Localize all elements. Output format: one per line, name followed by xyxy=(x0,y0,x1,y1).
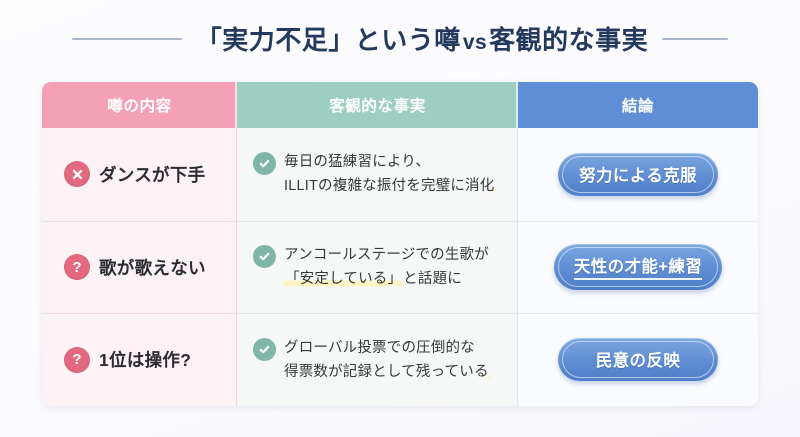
fact-text: 毎日の猛練習により、 ILLITの複雑な振付を完璧に消化 xyxy=(284,151,496,199)
table-header-conclusion-label: 結論 xyxy=(622,94,654,116)
question-circle-icon: ? xyxy=(64,254,90,280)
fact-line-2-post: と話題に xyxy=(403,271,462,287)
rumour-cell: ? 1位は操作? xyxy=(42,313,237,406)
check-circle-icon xyxy=(253,245,276,268)
fact-line-2-pre: 得票数が記録として残っている xyxy=(284,364,489,380)
title-rule-left-decoration xyxy=(72,38,182,40)
fact-line-2-highlight xyxy=(494,178,496,194)
page-title-block: 「実力不足」という噂vs客観的な事実 xyxy=(0,20,800,57)
conclusion-cell: 民意の反映 xyxy=(518,313,758,406)
rumour-cell: ダンスが下手 xyxy=(42,128,237,221)
fact-content: 毎日の猛練習により、 ILLITの複雑な振付を完璧に消化 xyxy=(253,149,496,199)
check-circle-icon xyxy=(253,338,276,361)
conclusion-badge[interactable]: 民意の反映 xyxy=(558,338,718,381)
conclusion-badge[interactable]: 努力による克服 xyxy=(558,153,718,196)
question-circle-icon: ? xyxy=(64,347,90,373)
fact-line-2: 得票数が記録として残っている xyxy=(284,361,491,385)
fact-cell: アンコールステージでの生歌が 「安定している」と話題に xyxy=(237,221,518,314)
rumour-label: 1位は操作? xyxy=(99,347,191,372)
fact-line-1: アンコールステージでの生歌が xyxy=(284,244,489,268)
x-circle-icon xyxy=(64,161,90,187)
fact-line-2-highlight xyxy=(489,364,491,380)
page-title-part-fact: 客観的な事実 xyxy=(489,25,648,55)
page-title: 「実力不足」という噂vs客観的な事実 xyxy=(196,20,648,57)
fact-cell: 毎日の猛練習により、 ILLITの複雑な振付を完璧に消化 xyxy=(237,128,518,221)
conclusion-cell: 努力による克服 xyxy=(518,128,758,221)
conclusion-label: 民意の反映 xyxy=(596,347,681,371)
rumour-content: ダンスが下手 xyxy=(64,161,205,187)
table-header-rumour: 噂の内容 xyxy=(42,82,237,128)
table-header-row: 噂の内容 客観的な事実 結論 xyxy=(42,82,758,128)
table-row: ダンスが下手 毎日の猛練習により、 ILLITの複雑な振付を完璧に消化 xyxy=(42,128,758,221)
rumour-content: ? 歌が歌えない xyxy=(64,254,206,280)
fact-content: グローバル投票での圧倒的な 得票数が記録として残っている xyxy=(253,335,491,385)
check-circle-icon xyxy=(253,152,276,175)
table-row: ? 歌が歌えない アンコールステージでの生歌が 「安定している」と話題に xyxy=(42,221,758,314)
fact-line-2-pre: ILLITの複雑な振付を完璧に消化 xyxy=(284,178,494,194)
fact-line-1: 毎日の猛練習により、 xyxy=(284,151,496,175)
page-title-part-rumour: 「実力不足」という噂 xyxy=(196,25,461,55)
fact-line-2: ILLITの複雑な振付を完璧に消化 xyxy=(284,175,496,199)
rumour-content: ? 1位は操作? xyxy=(64,347,191,373)
fact-content: アンコールステージでの生歌が 「安定している」と話題に xyxy=(253,242,489,292)
fact-text: アンコールステージでの生歌が 「安定している」と話題に xyxy=(284,244,489,292)
fact-line-2: 「安定している」と話題に xyxy=(284,268,489,292)
conclusion-cell: 天性の才能+練習 xyxy=(518,221,758,314)
table-body: ダンスが下手 毎日の猛練習により、 ILLITの複雑な振付を完璧に消化 xyxy=(42,128,758,406)
table-header-conclusion: 結論 xyxy=(518,82,758,128)
comparison-table: 噂の内容 客観的な事実 結論 ダンスが下手 xyxy=(42,82,758,406)
title-rule-right-decoration xyxy=(662,38,728,40)
rumour-cell: ? 歌が歌えない xyxy=(42,221,237,314)
page-title-vs: vs xyxy=(461,31,489,54)
rumour-label: 歌が歌えない xyxy=(99,255,206,280)
fact-line-2-highlight: 「安定している」 xyxy=(284,271,403,287)
conclusion-label: 努力による克服 xyxy=(579,162,697,186)
table-header-fact-label: 客観的な事実 xyxy=(329,94,426,116)
fact-cell: グローバル投票での圧倒的な 得票数が記録として残っている xyxy=(237,313,518,406)
table-row: ? 1位は操作? グローバル投票での圧倒的な 得票数が記録として残っている xyxy=(42,313,758,406)
table-header-rumour-label: 噂の内容 xyxy=(107,94,171,116)
table-header-fact: 客観的な事実 xyxy=(237,82,518,128)
conclusion-label: 天性の才能+練習 xyxy=(574,253,702,280)
fact-text: グローバル投票での圧倒的な 得票数が記録として残っている xyxy=(284,337,491,385)
conclusion-badge[interactable]: 天性の才能+練習 xyxy=(554,244,722,290)
fact-line-1: グローバル投票での圧倒的な xyxy=(284,337,491,361)
rumour-label: ダンスが下手 xyxy=(99,162,205,187)
